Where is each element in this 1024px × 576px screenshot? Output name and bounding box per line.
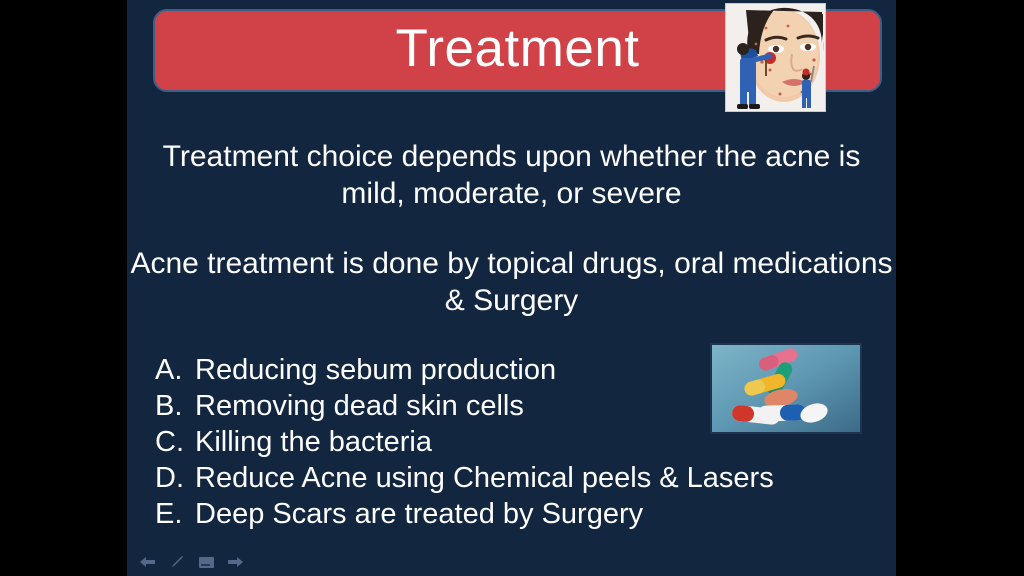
- list-item-marker: B.: [155, 388, 195, 424]
- list-item-marker: D.: [155, 460, 195, 496]
- body-paragraph-2: Acne treatment is done by topical drugs,…: [127, 245, 896, 319]
- list-item-label: Removing dead skin cells: [195, 388, 524, 424]
- list-item-marker: C.: [155, 424, 195, 460]
- list-item: D. Reduce Acne using Chemical peels & La…: [155, 460, 885, 496]
- acne-face-treatment-image: [725, 3, 826, 112]
- page-title: Treatment: [395, 22, 639, 79]
- previous-slide-icon[interactable]: [135, 553, 161, 571]
- presentation-viewer: Treatment: [0, 0, 1024, 576]
- list-item-label: Killing the bacteria: [195, 424, 432, 460]
- list-item-label: Reduce Acne using Chemical peels & Laser…: [195, 460, 774, 496]
- slide-navigation-toolbar: [127, 548, 896, 576]
- list-item-marker: E.: [155, 496, 195, 532]
- slide-menu-icon[interactable]: [193, 553, 219, 571]
- pills-capsules-image: [710, 343, 862, 434]
- list-item-label: Reducing sebum production: [195, 352, 556, 388]
- body-paragraph-1: Treatment choice depends upon whether th…: [127, 138, 896, 212]
- slide-canvas: Treatment: [127, 0, 896, 576]
- list-item-label: Deep Scars are treated by Surgery: [195, 496, 643, 532]
- list-item-marker: A.: [155, 352, 195, 388]
- next-slide-icon[interactable]: [222, 553, 248, 571]
- list-item: E. Deep Scars are treated by Surgery: [155, 496, 885, 532]
- pen-annotate-icon[interactable]: [164, 553, 190, 571]
